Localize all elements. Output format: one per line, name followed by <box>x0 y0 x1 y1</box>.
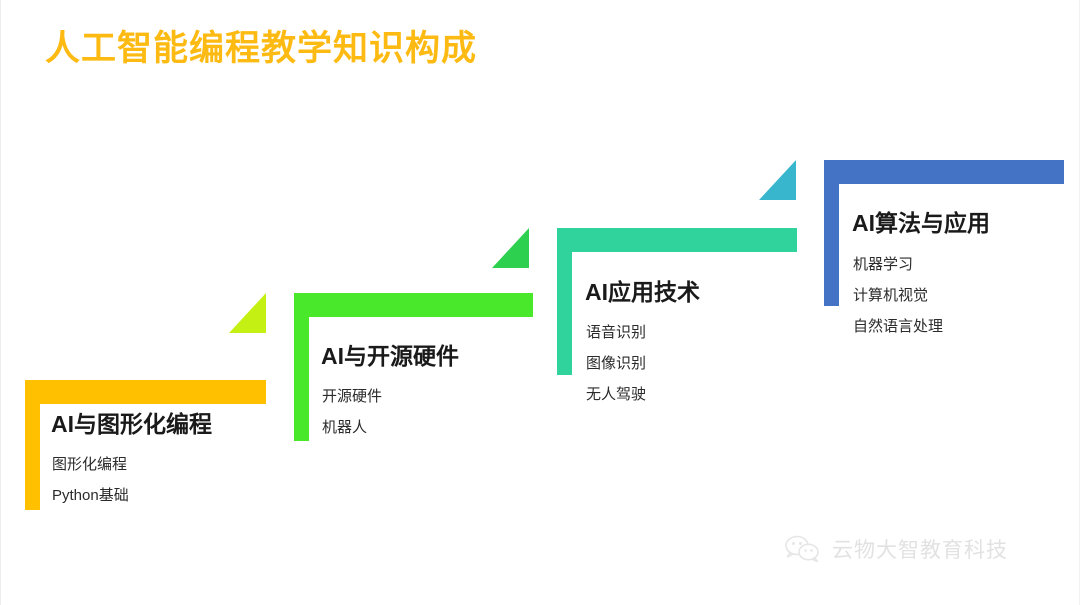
list-item: 开源硬件 <box>322 389 382 404</box>
step-item-list-2: 开源硬件 机器人 <box>322 389 382 451</box>
step-heading-1: AI与图形化编程 <box>51 412 212 437</box>
list-item: 机器人 <box>322 420 382 435</box>
wechat-icon <box>783 534 823 564</box>
step-heading-2: AI与开源硬件 <box>321 344 459 369</box>
step-item-list-3: 语音识别 图像识别 无人驾驶 <box>586 325 646 418</box>
step-bracket-side-2 <box>294 293 309 441</box>
step-bracket-top-1 <box>25 380 266 404</box>
watermark-text: 云物大智教育科技 <box>832 534 1008 564</box>
list-item: Python基础 <box>52 488 129 503</box>
step-bracket-top-4 <box>824 160 1064 184</box>
step-heading-4: AI算法与应用 <box>852 211 990 236</box>
step-bracket-side-1 <box>25 380 40 510</box>
connector-triangle-2 <box>492 228 529 268</box>
list-item: 无人驾驶 <box>586 387 646 402</box>
list-item: 语音识别 <box>586 325 646 340</box>
step-heading-3: AI应用技术 <box>585 280 700 305</box>
step-item-list-1: 图形化编程 Python基础 <box>52 457 129 519</box>
step-item-list-4: 机器学习 计算机视觉 自然语言处理 <box>853 257 943 350</box>
list-item: 自然语言处理 <box>853 319 943 334</box>
step-bracket-side-3 <box>557 228 572 375</box>
step-bracket-top-2 <box>294 293 533 317</box>
step-bracket-side-4 <box>824 160 839 306</box>
connector-triangle-3 <box>759 160 796 200</box>
page-title: 人工智能编程教学知识构成 <box>45 28 477 70</box>
watermark: 云物大智教育科技 <box>783 534 1008 564</box>
list-item: 计算机视觉 <box>853 288 943 303</box>
list-item: 机器学习 <box>853 257 943 272</box>
slide-canvas: 人工智能编程教学知识构成 AI与图形化编程 图形化编程 Python基础 AI与… <box>0 0 1080 605</box>
step-bracket-top-3 <box>557 228 797 252</box>
list-item: 图形化编程 <box>52 457 129 472</box>
connector-triangle-1 <box>229 293 266 333</box>
list-item: 图像识别 <box>586 356 646 371</box>
